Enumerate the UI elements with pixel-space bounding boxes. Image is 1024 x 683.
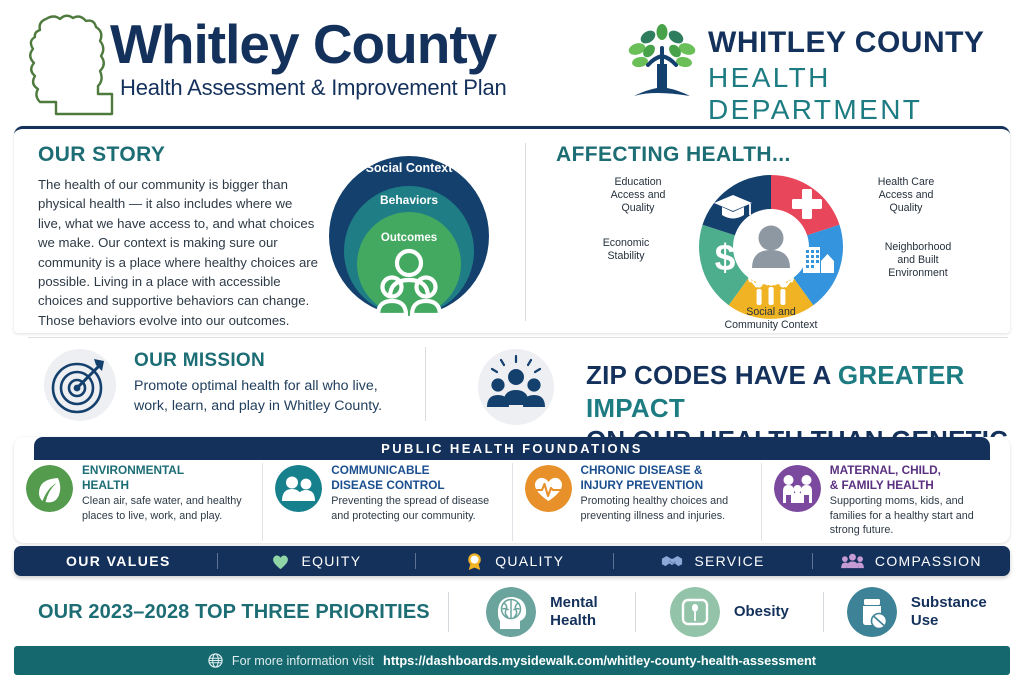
middle-circle-label: Behaviors (380, 193, 438, 207)
priorities-title: OUR 2023–2028 TOP THREE PRIORITIES (14, 601, 448, 624)
svg-text:Social and: Social and (746, 306, 796, 318)
value-label: COMPASSION (875, 553, 982, 569)
outer-circle-label: Social Context (366, 161, 454, 175)
page-header: Whitley County Health Assessment & Impro… (0, 0, 1024, 122)
foundation-text: MATERNAL, CHILD, & FAMILY HEALTH Support… (830, 463, 998, 541)
public-health-foundations-grid: ENVIRONMENTAL HEALTH Clean air, safe wat… (14, 463, 1010, 541)
foundation-title: ENVIRONMENTAL HEALTH (82, 463, 250, 492)
award-badge-icon (465, 552, 484, 571)
target-dart-icon-wrap (44, 349, 116, 421)
priorities-row: OUR 2023–2028 TOP THREE PRIORITIES Menta… (14, 582, 1010, 642)
infographic-page: Whitley County Health Assessment & Impro… (0, 0, 1024, 683)
mission-row-top-rule (28, 337, 1008, 338)
svg-text:Quality: Quality (890, 202, 924, 214)
label-health-care: Health CareAccess andQuality (878, 176, 935, 214)
family-icon (774, 465, 821, 512)
priority-item-obesity[interactable]: Obesity (636, 587, 822, 637)
people-idea-icon (478, 349, 554, 425)
title-block: Whitley County Health Assessment & Impro… (110, 16, 507, 101)
label-economic-stability: EconomicStability (603, 237, 650, 262)
priority-label: Substance Use (911, 594, 987, 630)
svg-text:Education: Education (614, 176, 661, 188)
svg-text:Stability: Stability (607, 250, 645, 262)
svg-text:Economic: Economic (603, 237, 650, 249)
mission-zip-divider (425, 347, 426, 421)
footer-url[interactable]: https://dashboards.mysidewalk.com/whitle… (383, 653, 816, 668)
logo-text: WHITLEY COUNTY HEALTH DEPARTMENT (708, 26, 1004, 126)
story-and-affecting-card: OUR STORY The health of our community is… (14, 126, 1010, 333)
foundation-text: ENVIRONMENTAL HEALTH Clean air, safe wat… (82, 463, 250, 541)
leaf-icon (26, 465, 73, 512)
value-item-service[interactable]: SERVICE (614, 552, 811, 571)
health-department-logo: WHITLEY COUNTY HEALTH DEPARTMENT (624, 20, 1004, 110)
foundation-body: Promoting healthy choices and preventing… (581, 494, 749, 522)
foundation-item-communicable-disease-control[interactable]: COMMUNICABLE DISEASE CONTROL Preventing … (262, 463, 511, 541)
our-story-body: The health of our community is bigger th… (38, 175, 318, 330)
foundation-title: CHRONIC DISEASE & INJURY PREVENTION (581, 463, 749, 492)
foundation-item-environmental-health[interactable]: ENVIRONMENTAL HEALTH Clean air, safe wat… (14, 463, 262, 541)
priority-item-mental-health[interactable]: Mental Health (449, 587, 635, 637)
pill-bottle-icon (847, 587, 897, 637)
head-brain-icon (486, 587, 536, 637)
mission-title: OUR MISSION (134, 350, 414, 372)
svg-text:Community Context: Community Context (724, 319, 817, 331)
svg-text:Quality: Quality (622, 202, 656, 214)
foundation-title: COMMUNICABLE DISEASE CONTROL (331, 463, 499, 492)
label-neighborhood: Neighborhoodand BuiltEnvironment (885, 241, 952, 279)
our-values-label: OUR VALUES (14, 553, 217, 569)
our-story-section: OUR STORY The health of our community is… (38, 143, 318, 330)
affecting-health-heading: AFFECTING HEALTH... (556, 143, 1006, 167)
handshake-icon (661, 552, 683, 571)
svg-text:Health Care: Health Care (878, 176, 935, 188)
logo-line-1: WHITLEY COUNTY (708, 26, 1004, 60)
zip-line-1: ZIP CODES HAVE A GREATER IMPACT (586, 359, 1010, 424)
foundation-body: Supporting moms, kids, and families for … (830, 494, 998, 536)
svg-text:$: $ (715, 237, 736, 278)
svg-text:Environment: Environment (888, 267, 948, 279)
svg-text:Access and: Access and (879, 189, 934, 201)
value-label: QUALITY (495, 553, 564, 569)
priority-label: Mental Health (550, 594, 598, 630)
foundation-title: MATERNAL, CHILD, & FAMILY HEALTH (830, 463, 998, 492)
weight-scale-icon (670, 587, 720, 637)
our-values-bar: OUR VALUES EQUITY QUALITY SERVICE (14, 546, 1010, 576)
inner-circle (357, 212, 461, 316)
page-title: Whitley County (110, 16, 507, 74)
svg-text:Access and: Access and (611, 189, 666, 201)
value-item-equity[interactable]: EQUITY (218, 552, 415, 571)
tree-logo-icon (624, 24, 700, 104)
card-vertical-divider (525, 143, 526, 321)
footer-prefix: For more information visit (232, 654, 374, 668)
social-determinants-donut-chart: $ EducationAccess andQuality Health Care… (556, 167, 1016, 332)
heart-pulse-icon (525, 465, 572, 512)
page-subtitle: Health Assessment & Improvement Plan (120, 75, 507, 101)
mission-and-zip-row: OUR MISSION Promote optimal health for a… (14, 339, 1010, 434)
foundation-item-maternal-child-family-health[interactable]: MATERNAL, CHILD, & FAMILY HEALTH Support… (761, 463, 1010, 541)
value-item-quality[interactable]: QUALITY (416, 552, 613, 571)
foundation-item-chronic-disease-injury-prevention[interactable]: CHRONIC DISEASE & INJURY PREVENTION Prom… (512, 463, 761, 541)
mission-text: OUR MISSION Promote optimal health for a… (134, 350, 414, 416)
foundation-text: CHRONIC DISEASE & INJURY PREVENTION Prom… (581, 463, 749, 541)
priority-label: Obesity (734, 603, 789, 621)
foundation-text: COMMUNICABLE DISEASE CONTROL Preventing … (331, 463, 499, 541)
svg-text:Neighborhood: Neighborhood (885, 241, 952, 253)
social-context-circles-diagram: Social Context Behaviors Outcomes (324, 141, 494, 331)
dollar-sign-icon: $ (715, 237, 736, 278)
mission-body: Promote optimal health for all who live,… (134, 376, 414, 416)
label-education: EducationAccess andQuality (611, 176, 666, 214)
logo-line-2: HEALTH DEPARTMENT (708, 62, 1004, 126)
people-group-icon (841, 552, 864, 571)
value-label: EQUITY (301, 553, 361, 569)
inner-circle-label: Outcomes (381, 232, 437, 244)
public-health-foundations-title: PUBLIC HEALTH FOUNDATIONS (34, 437, 990, 460)
value-item-compassion[interactable]: COMPASSION (813, 552, 1010, 571)
public-health-foundations-card: PUBLIC HEALTH FOUNDATIONS ENVIRONMENTAL … (14, 437, 1010, 543)
svg-text:and Built: and Built (897, 254, 938, 266)
people-idea-icon-wrap (478, 349, 554, 425)
footer-bar: For more information visit https://dashb… (14, 646, 1010, 675)
our-story-heading: OUR STORY (38, 143, 318, 167)
foundation-body: Clean air, safe water, and healthy place… (82, 494, 250, 522)
heart-icon (271, 552, 290, 571)
priority-item-substance-use[interactable]: Substance Use (824, 587, 1010, 637)
foundation-body: Preventing the spread of disease and pro… (331, 494, 499, 522)
zip-line-1-pre: ZIP CODES HAVE A (586, 360, 838, 390)
value-label: SERVICE (694, 553, 764, 569)
two-people-icon (275, 465, 322, 512)
target-dart-icon (44, 349, 116, 421)
globe-icon (208, 653, 223, 668)
